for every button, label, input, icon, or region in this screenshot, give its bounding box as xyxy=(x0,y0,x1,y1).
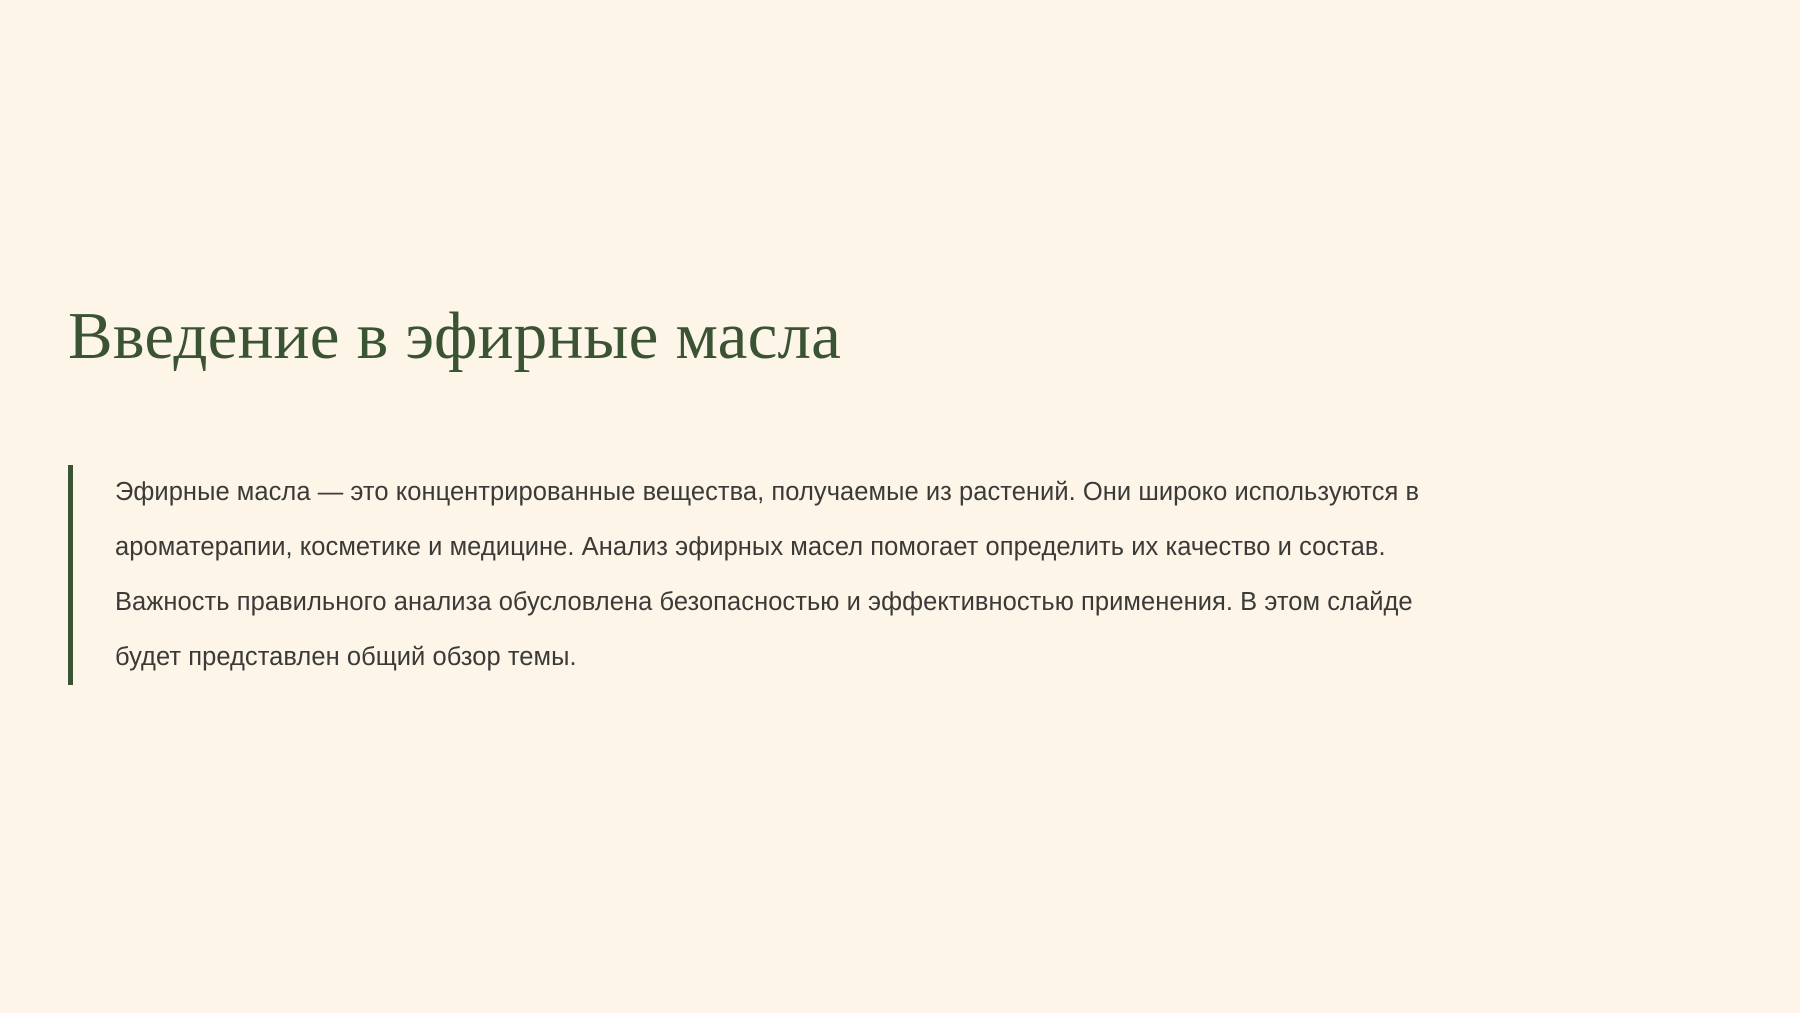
slide-canvas: Введение в эфирные масла Эфирные масла —… xyxy=(0,0,1800,1013)
body-paragraph: Эфирные масла — это концентрированные ве… xyxy=(73,465,1468,685)
body-callout: Эфирные масла — это концентрированные ве… xyxy=(68,465,1468,685)
page-title: Введение в эфирные масла xyxy=(68,297,1628,376)
